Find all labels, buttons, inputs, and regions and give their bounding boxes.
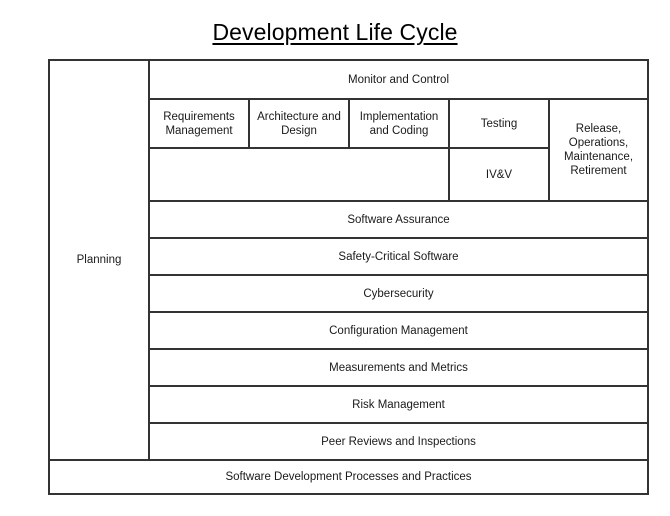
phase-label-ivv: IV&V [486,168,512,182]
page-title: Development Life Cycle [0,17,670,47]
lifecycle-right-stack: Monitor and Control Requirements Managem… [150,61,647,459]
band-measurements-and-metrics: Measurements and Metrics [150,350,647,387]
monitor-and-control-label: Monitor and Control [348,74,449,86]
phase-label-requirements-management: Requirements Management [153,110,245,138]
page-title-text: Development Life Cycle [212,19,457,45]
discipline-band-stack: Software Assurance Safety-Critical Softw… [150,202,647,459]
phase-cell-empty-merged [150,149,450,200]
lifecycle-upper-region: Planning Monitor and Control Requirement… [50,61,647,459]
band-label-peer-reviews-and-inspections: Peer Reviews and Inspections [321,436,476,448]
phase-cell-testing: Testing [450,100,548,147]
band-software-assurance: Software Assurance [150,202,647,239]
phase-label-testing: Testing [481,117,517,131]
phase-cell-ivv: IV&V [450,149,548,200]
phase-label-release-operations-maintenance-retirement: Release, Operations, Maintenance, Retire… [553,122,644,178]
band-software-development-processes-and-practices: Software Development Processes and Pract… [50,459,647,493]
band-label-cybersecurity: Cybersecurity [363,288,433,300]
band-cybersecurity: Cybersecurity [150,276,647,313]
planning-column-cell: Planning [50,61,150,459]
band-label-software-development-processes-and-practices: Software Development Processes and Pract… [225,471,471,483]
phase-label-architecture-and-design: Architecture and Design [253,110,345,138]
development-life-cycle-diagram: Development Life Cycle Planning Monitor … [0,0,670,516]
monitor-and-control-band: Monitor and Control [150,61,647,100]
planning-label: Planning [77,254,122,266]
phase-cell-release-operations-maintenance-retirement: Release, Operations, Maintenance, Retire… [550,100,647,200]
phase-row-primary: Requirements Management Architecture and… [150,100,548,149]
phase-label-implementation-and-coding: Implementation and Coding [353,110,445,138]
band-risk-management: Risk Management [150,387,647,424]
band-configuration-management: Configuration Management [150,313,647,350]
band-label-configuration-management: Configuration Management [329,325,468,337]
phase-cell-architecture-and-design: Architecture and Design [250,100,350,147]
band-peer-reviews-and-inspections: Peer Reviews and Inspections [150,424,647,459]
phase-cell-implementation-and-coding: Implementation and Coding [350,100,450,147]
phase-grid-left: Requirements Management Architecture and… [150,100,550,200]
band-label-safety-critical-software: Safety-Critical Software [338,251,458,263]
phase-grid: Requirements Management Architecture and… [150,100,647,202]
band-safety-critical-software: Safety-Critical Software [150,239,647,276]
lifecycle-table: Planning Monitor and Control Requirement… [48,59,649,495]
phase-cell-requirements-management: Requirements Management [150,100,250,147]
band-label-risk-management: Risk Management [352,399,445,411]
phase-row-secondary: IV&V [150,149,548,200]
band-label-software-assurance: Software Assurance [347,214,449,226]
band-label-measurements-and-metrics: Measurements and Metrics [329,362,468,374]
